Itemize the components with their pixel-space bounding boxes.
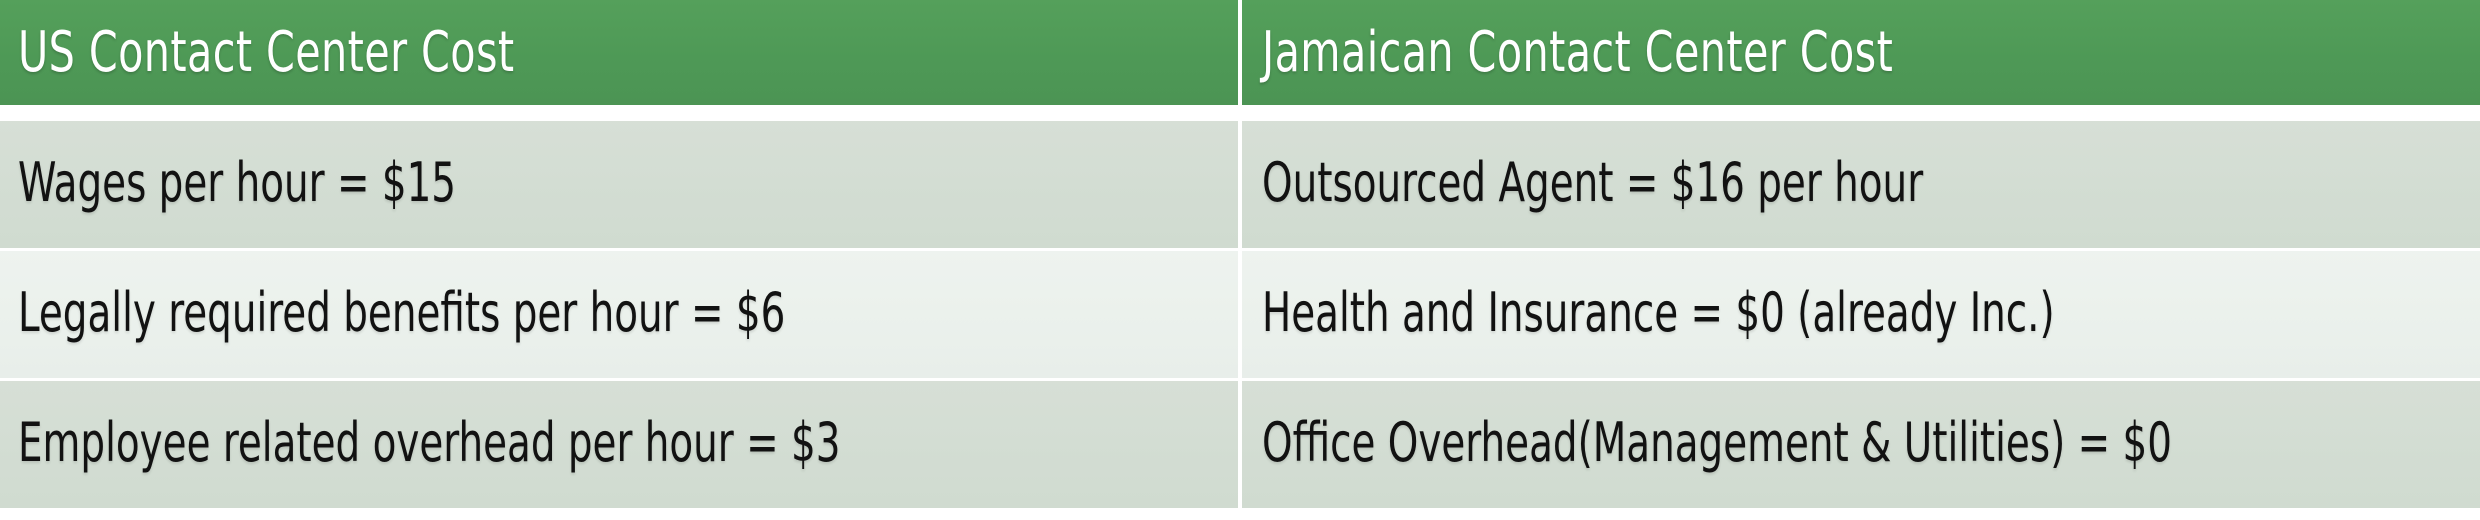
table-cell-jamaica: Office Overhead(Management & Utilities) …: [1238, 378, 2480, 508]
table-header-cell-us: US Contact Center Cost: [0, 0, 1238, 105]
table-cell-text-jamaica: Outsourced Agent = $16 per hour: [1262, 156, 1923, 210]
table-cell-text-jamaica: Office Overhead(Management & Utilities) …: [1262, 416, 2172, 470]
table-row: Legally required benefits per hour = $6 …: [0, 248, 2480, 378]
cost-comparison-table: US Contact Center Cost Jamaican Contact …: [0, 0, 2480, 520]
table-header-row: US Contact Center Cost Jamaican Contact …: [0, 0, 2480, 108]
table-bottom-edge: [0, 508, 2480, 520]
table-cell-us: Employee related overhead per hour = $3: [0, 378, 1238, 508]
table-cell-us: Wages per hour = $15: [0, 118, 1238, 248]
table-header-label-jamaica: Jamaican Contact Center Cost: [1262, 25, 1893, 81]
header-column-divider: [1238, 0, 1242, 105]
table-cell-jamaica: Health and Insurance = $0 (already Inc.): [1238, 248, 2480, 378]
row-column-divider: [1238, 118, 1242, 248]
table-header-cell-jamaica: Jamaican Contact Center Cost: [1238, 0, 2480, 105]
table-cell-jamaica: Outsourced Agent = $16 per hour: [1238, 118, 2480, 248]
row-column-divider: [1238, 248, 1242, 378]
table-cell-text-us: Wages per hour = $15: [18, 156, 456, 210]
table-cell-us: Legally required benefits per hour = $6: [0, 248, 1238, 378]
table-body: Wages per hour = $15 Outsourced Agent = …: [0, 118, 2480, 508]
table-row: Wages per hour = $15 Outsourced Agent = …: [0, 118, 2480, 248]
table-cell-text-jamaica: Health and Insurance = $0 (already Inc.): [1262, 286, 2055, 340]
table-cell-text-us: Employee related overhead per hour = $3: [18, 416, 840, 470]
row-column-divider: [1238, 378, 1242, 508]
header-separator-gap: [0, 105, 2480, 118]
table-row: Employee related overhead per hour = $3 …: [0, 378, 2480, 508]
table-header-label-us: US Contact Center Cost: [18, 25, 514, 81]
table-cell-text-us: Legally required benefits per hour = $6: [18, 286, 785, 340]
